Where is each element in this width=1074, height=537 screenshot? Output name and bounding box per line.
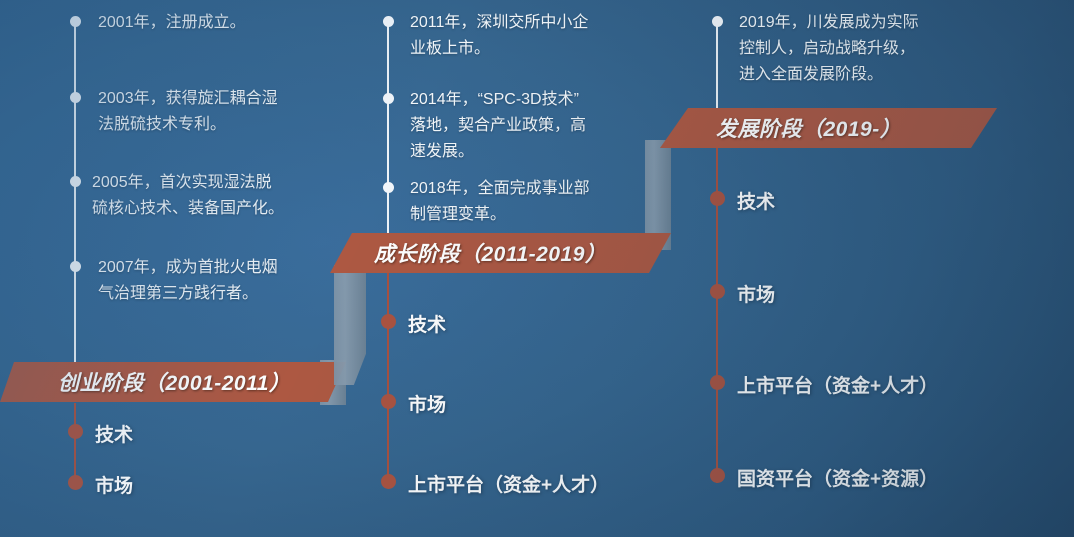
stage-startup-banner-label: 创业阶段（2001-2011） — [58, 367, 290, 397]
stage-development-asset-dot-2 — [710, 284, 725, 299]
stage-startup-event-dot-4 — [70, 261, 81, 272]
stage-growth-event-1: 2011年，深圳交所中小企 业板上市。 — [410, 10, 660, 62]
stage-startup-event-3: 2005年，首次实现湿法脱 硫核心技术、装备国产化。 — [92, 170, 354, 222]
stage-startup-banner[interactable]: 创业阶段（2001-2011） — [0, 362, 346, 402]
stage-growth-event-dot-1 — [383, 16, 394, 27]
stage-startup-event-1: 2001年，注册成立。 — [98, 10, 348, 36]
stage-development-asset-1: 技术 — [737, 187, 775, 214]
stage-development-asset-dot-4 — [710, 468, 725, 483]
stage-development-rail-upper — [716, 18, 718, 108]
stage-development-banner-label: 发展阶段（2019-） — [716, 113, 901, 143]
stage-growth-asset-2: 市场 — [408, 390, 446, 417]
stage-development-event-dot-1 — [712, 16, 723, 27]
stage-startup-event-2: 2003年，获得旋汇耦合湿 法脱硫技术专利。 — [98, 86, 348, 138]
stage-growth-asset-dot-2 — [381, 394, 396, 409]
stage-development-asset-3: 上市平台（资金+人才） — [737, 371, 938, 398]
stage-growth-asset-dot-3 — [381, 474, 396, 489]
stage-growth-asset-3: 上市平台（资金+人才） — [408, 470, 609, 497]
stage-development-asset-4: 国资平台（资金+资源） — [737, 464, 938, 491]
stage-growth-asset-dot-1 — [381, 314, 396, 329]
stage-growth-asset-1: 技术 — [408, 310, 446, 337]
stage-growth-event-3: 2018年，全面完成事业部 制管理变革。 — [410, 176, 660, 228]
stage-development-asset-2: 市场 — [737, 280, 775, 307]
stage-growth-event-2: 2014年，“SPC-3D技术” 落地，契合产业政策，高 速发展。 — [410, 87, 662, 165]
stage-growth-rail-lower — [387, 273, 389, 483]
stage-development-banner[interactable]: 发展阶段（2019-） — [660, 108, 997, 148]
stage-growth-banner[interactable]: 成长阶段（2011-2019） — [330, 233, 671, 273]
stage-development-asset-dot-3 — [710, 375, 725, 390]
stage-development-asset-dot-1 — [710, 191, 725, 206]
timeline-slide: 2001年，注册成立。 2003年，获得旋汇耦合湿 法脱硫技术专利。 2005年… — [0, 0, 1074, 537]
stage-startup-event-4: 2007年，成为首批火电烟 气治理第三方践行者。 — [98, 255, 348, 307]
stage-startup-asset-2: 市场 — [95, 471, 133, 498]
stage-growth-event-dot-3 — [383, 182, 394, 193]
stage-development-event-1: 2019年，川发展成为实际 控制人，启动战略升级， 进入全面发展阶段。 — [739, 10, 989, 88]
stage-startup-rail-lower — [74, 403, 76, 483]
stage-growth-event-dot-2 — [383, 93, 394, 104]
stage-startup-asset-1: 技术 — [95, 420, 133, 447]
stage-startup-rail-upper — [74, 18, 76, 366]
stage-startup-asset-dot-1 — [68, 424, 83, 439]
stage-growth-step-riser — [334, 265, 366, 385]
stage-growth-banner-label: 成长阶段（2011-2019） — [374, 238, 606, 268]
stage-startup-event-dot-2 — [70, 92, 81, 103]
stage-startup-event-dot-1 — [70, 16, 81, 27]
stage-startup-asset-dot-2 — [68, 475, 83, 490]
stage-growth-rail-upper — [387, 18, 389, 233]
stage-startup-event-dot-3 — [70, 176, 81, 187]
